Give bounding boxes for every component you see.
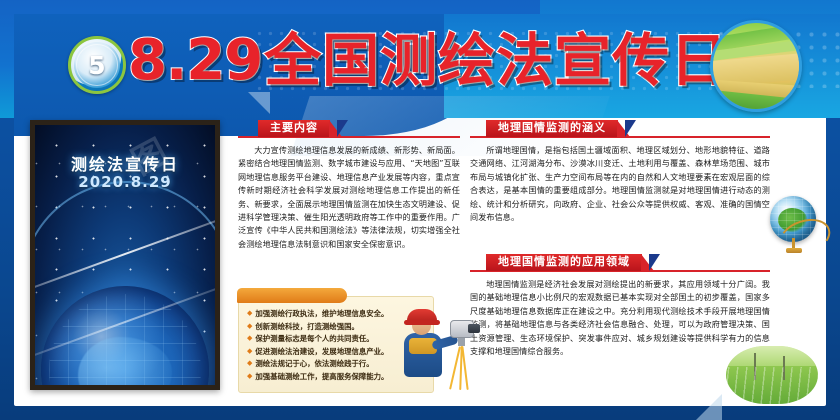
heading-slash-blue-icon: [649, 254, 660, 271]
surveyor-helmet-brim: [404, 320, 440, 325]
right-content-column: 地理国情监测的涵义 所谓地理国情，是指包括国土疆域面积、地理区域划分、地形地貌特…: [470, 120, 770, 392]
desk-globe-stand: [782, 236, 804, 256]
hero-photo-title: 测绘法宣传日: [35, 151, 215, 175]
farmland-circle-icon: [710, 20, 802, 112]
surveying-mapping-law-emblem: 5: [68, 36, 126, 94]
list-item-label: 加强基础测绘工作，提高服务保障能力。: [255, 371, 388, 383]
diamond-bullet-icon: ◆: [247, 308, 252, 320]
diamond-bullet-icon: ◆: [247, 333, 252, 345]
theodolite-lens: [468, 324, 480, 333]
list-item-label: 创新测绘科技，打造测绘强国。: [255, 321, 358, 333]
main-content-heading-label: 主要内容: [258, 120, 330, 137]
desk-globe-icon: [766, 196, 822, 258]
poster-canvas: 5 8.29 全国测绘法宣传日 测绘法宣传日 2020.8.29 图: [0, 0, 840, 420]
section-2-heading-label: 地理国情监测的应用领域: [486, 254, 642, 271]
main-content-paragraph: 大力宣传测绘地理信息发展的新成绩、新形势、新局面。紧密结合地理国情监测、数字城市…: [238, 144, 460, 251]
list-item-label: 保护测量标志是每个人的共同责任。: [255, 333, 373, 345]
emblem-ring: [76, 44, 118, 86]
bottom-corner-fold: [696, 394, 722, 420]
list-item-label: 加强测绘行政执法，维护地理信息安全。: [255, 308, 388, 320]
section-1-heading-label: 地理国情监测的涵义: [486, 120, 618, 137]
slogan-box-tab: [237, 288, 347, 303]
section-2-paragraph: 地理国情监测是经济社会发展对测绘提出的新要求，其应用领域十分广阔。我国的基础地理…: [470, 278, 770, 358]
diamond-bullet-icon: ◆: [247, 358, 252, 370]
list-item-label: 促进测绘法治建设，发展地理信息产业。: [255, 346, 388, 358]
farmland-rows: [726, 367, 818, 404]
section-1-paragraph: 所谓地理国情，是指包括国土疆域面积、地理区域划分、地形地貌特征、道路交通网络、江…: [470, 144, 770, 224]
hero-photo-date: 2020.8.29: [35, 173, 215, 191]
heading-slash-blue-icon: [625, 120, 636, 137]
surveyor-with-theodolite-icon: [398, 300, 494, 392]
list-item-label: 测绘法规记于心，依法测绘践于行。: [255, 358, 373, 370]
main-content-heading: 主要内容: [258, 120, 348, 137]
hero-photo-inner: 测绘法宣传日 2020.8.29 图: [35, 125, 215, 385]
headline-title-cn: 全国测绘法宣传日: [264, 33, 728, 90]
farmland-sky: [726, 346, 818, 366]
section-2-heading: 地理国情监测的应用领域: [486, 254, 660, 271]
page-title: 8.29 全国测绘法宣传日: [128, 26, 728, 96]
theodolite-neck: [458, 337, 465, 346]
hero-photo-panel: 测绘法宣传日 2020.8.29 图: [30, 120, 220, 390]
emblem-inner-disc: 5: [74, 42, 120, 88]
diamond-bullet-icon: ◆: [247, 371, 252, 383]
heading-slash-blue-icon: [337, 120, 348, 137]
headline-date-number: 8.29: [128, 33, 262, 89]
desk-globe-base: [786, 248, 802, 253]
diamond-bullet-icon: ◆: [247, 321, 252, 333]
farmland-scene-icon: [726, 346, 818, 404]
diamond-bullet-icon: ◆: [247, 346, 252, 358]
section-1-heading: 地理国情监测的涵义: [486, 120, 636, 137]
